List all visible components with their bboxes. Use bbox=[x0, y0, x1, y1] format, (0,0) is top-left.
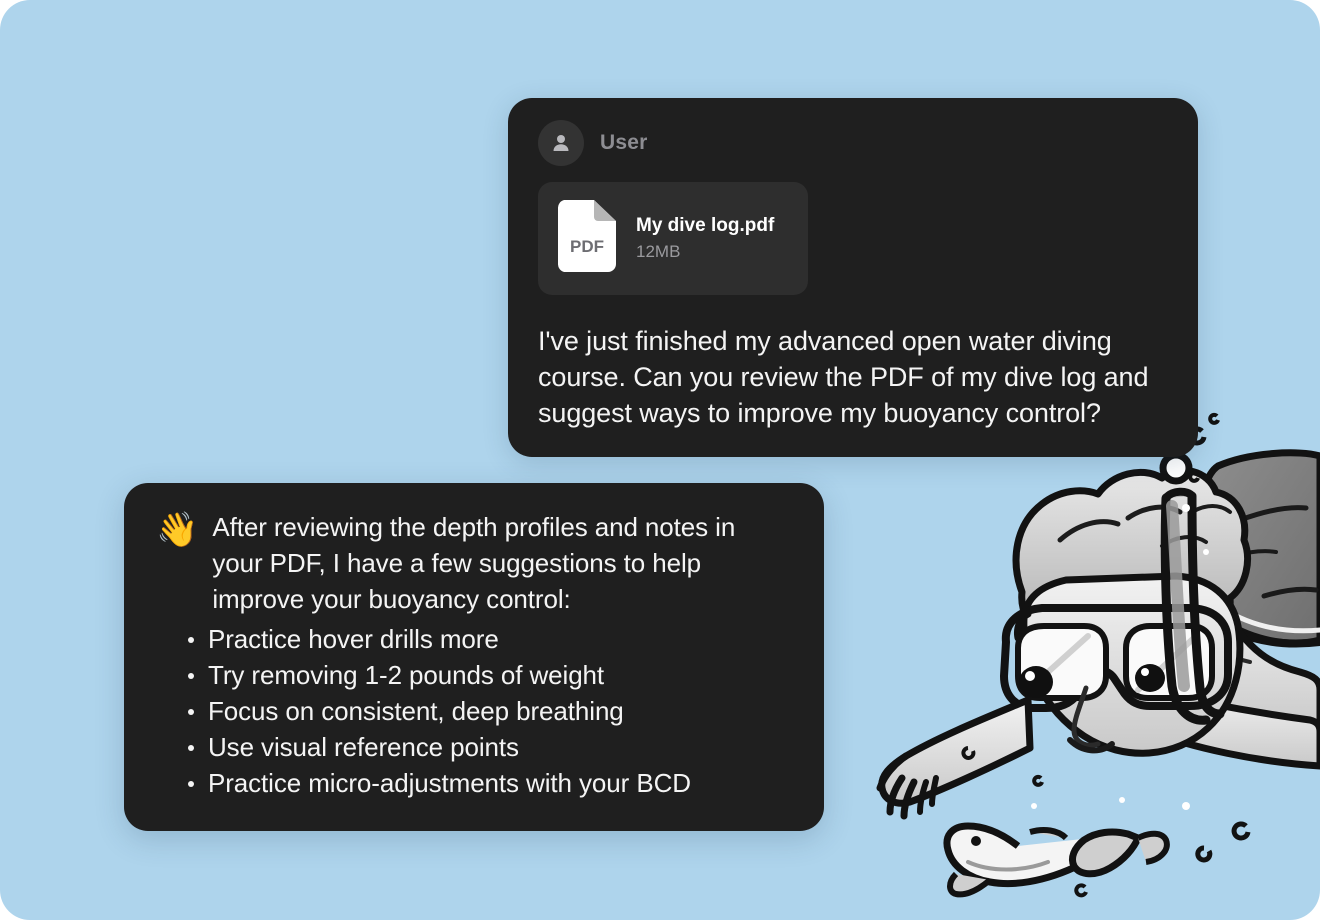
assistant-intro-text: After reviewing the depth profiles and n… bbox=[212, 509, 792, 617]
suggestion-list: Practice hover drills moreTry removing 1… bbox=[156, 621, 792, 801]
sender-label: User bbox=[600, 131, 648, 155]
user-message-bubble: User PDF My dive log.pdf 12MB I've just … bbox=[508, 98, 1198, 457]
swimmer-left-arm bbox=[880, 700, 1030, 816]
user-message-header: User bbox=[538, 120, 1168, 166]
assistant-intro-row: 👋 After reviewing the depth profiles and… bbox=[156, 509, 792, 617]
suggestion-item: Practice hover drills more bbox=[180, 621, 792, 657]
swimmer-shoulders bbox=[1145, 597, 1320, 732]
suggestion-item: Practice micro-adjustments with your BCD bbox=[180, 765, 792, 801]
snorkel bbox=[1165, 492, 1220, 720]
suggestion-item: Use visual reference points bbox=[180, 729, 792, 765]
waving-hand-emoji: 👋 bbox=[156, 511, 198, 549]
user-message-text: I've just finished my advanced open wate… bbox=[538, 323, 1168, 431]
fish bbox=[947, 826, 1167, 894]
conversation-scene: User PDF My dive log.pdf 12MB I've just … bbox=[0, 0, 1320, 920]
swimmer-wetsuit-torso bbox=[1199, 453, 1320, 644]
svg-text:PDF: PDF bbox=[570, 237, 604, 256]
suggestion-item: Focus on consistent, deep breathing bbox=[180, 693, 792, 729]
swimmer-right-arm bbox=[1130, 690, 1320, 766]
suggestion-item: Try removing 1-2 pounds of weight bbox=[180, 657, 792, 693]
pdf-attachment-card[interactable]: PDF My dive log.pdf 12MB bbox=[538, 182, 808, 295]
swimmer-head bbox=[1004, 470, 1248, 753]
pdf-file-icon: PDF bbox=[558, 200, 616, 277]
bubbles bbox=[963, 391, 1248, 895]
person-avatar-icon bbox=[538, 120, 584, 166]
attachment-meta: My dive log.pdf 12MB bbox=[636, 215, 774, 262]
attachment-file-size: 12MB bbox=[636, 242, 774, 262]
attachment-file-name: My dive log.pdf bbox=[636, 215, 774, 237]
assistant-message-bubble: 👋 After reviewing the depth profiles and… bbox=[124, 483, 824, 831]
